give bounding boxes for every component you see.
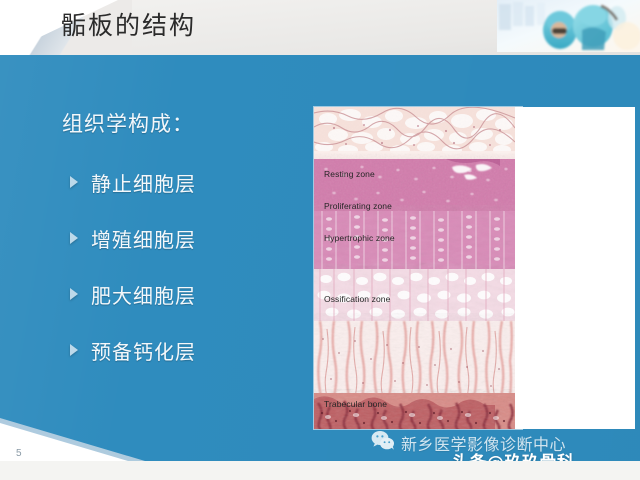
zone-label-ossification: Ossification zone: [324, 294, 390, 304]
triangle-bullet-icon: [70, 176, 78, 188]
list-item: 肥大细胞层: [62, 266, 294, 322]
page-title: 骺板的结构: [61, 4, 196, 48]
triangle-bullet-icon: [70, 344, 78, 356]
slide-body: 组织学构成： 静止细胞层 增殖细胞层 肥大细胞层 预备钙化层: [0, 55, 640, 461]
list-item: 预备钙化层: [62, 322, 294, 378]
content-text-column: 组织学构成： 静止细胞层 增殖细胞层 肥大细胞层 预备钙化层: [62, 108, 294, 378]
list-item-label: 静止细胞层: [91, 168, 196, 197]
wechat-icon: [371, 430, 395, 455]
slide-header: 骺板的结构: [0, 0, 640, 55]
triangle-bullet-icon: [70, 232, 78, 244]
list-item: 增殖细胞层: [62, 210, 294, 266]
surgical-team-photo: [497, 0, 640, 52]
footer-bar: [0, 461, 640, 480]
list-item-label: 预备钙化层: [91, 336, 196, 365]
section-heading: 组织学构成：: [62, 108, 294, 138]
page-number: 5: [16, 448, 22, 459]
triangle-bullet-icon: [70, 288, 78, 300]
list-item: 静止细胞层: [62, 154, 294, 210]
growth-plate-histology-figure: Resting zone Proliferating zone Hypertro…: [314, 107, 522, 429]
bullet-list: 静止细胞层 增殖细胞层 肥大细胞层 预备钙化层: [62, 154, 294, 378]
zone-label-panel: [515, 107, 635, 429]
zone-label-trabecular: Trabecular bone: [324, 399, 387, 409]
list-item-label: 增殖细胞层: [91, 224, 196, 253]
zone-label-proliferating: Proliferating zone: [324, 201, 392, 211]
list-item-label: 肥大细胞层: [91, 280, 196, 309]
slide: 骺板的结构 组织学构成： 静止细胞层 增殖细胞层 肥大细胞层: [0, 0, 640, 480]
zone-label-resting: Resting zone: [324, 169, 375, 179]
histology-image: [314, 107, 515, 429]
zone-label-hypertrophic: Hypertrophic zone: [324, 233, 395, 243]
